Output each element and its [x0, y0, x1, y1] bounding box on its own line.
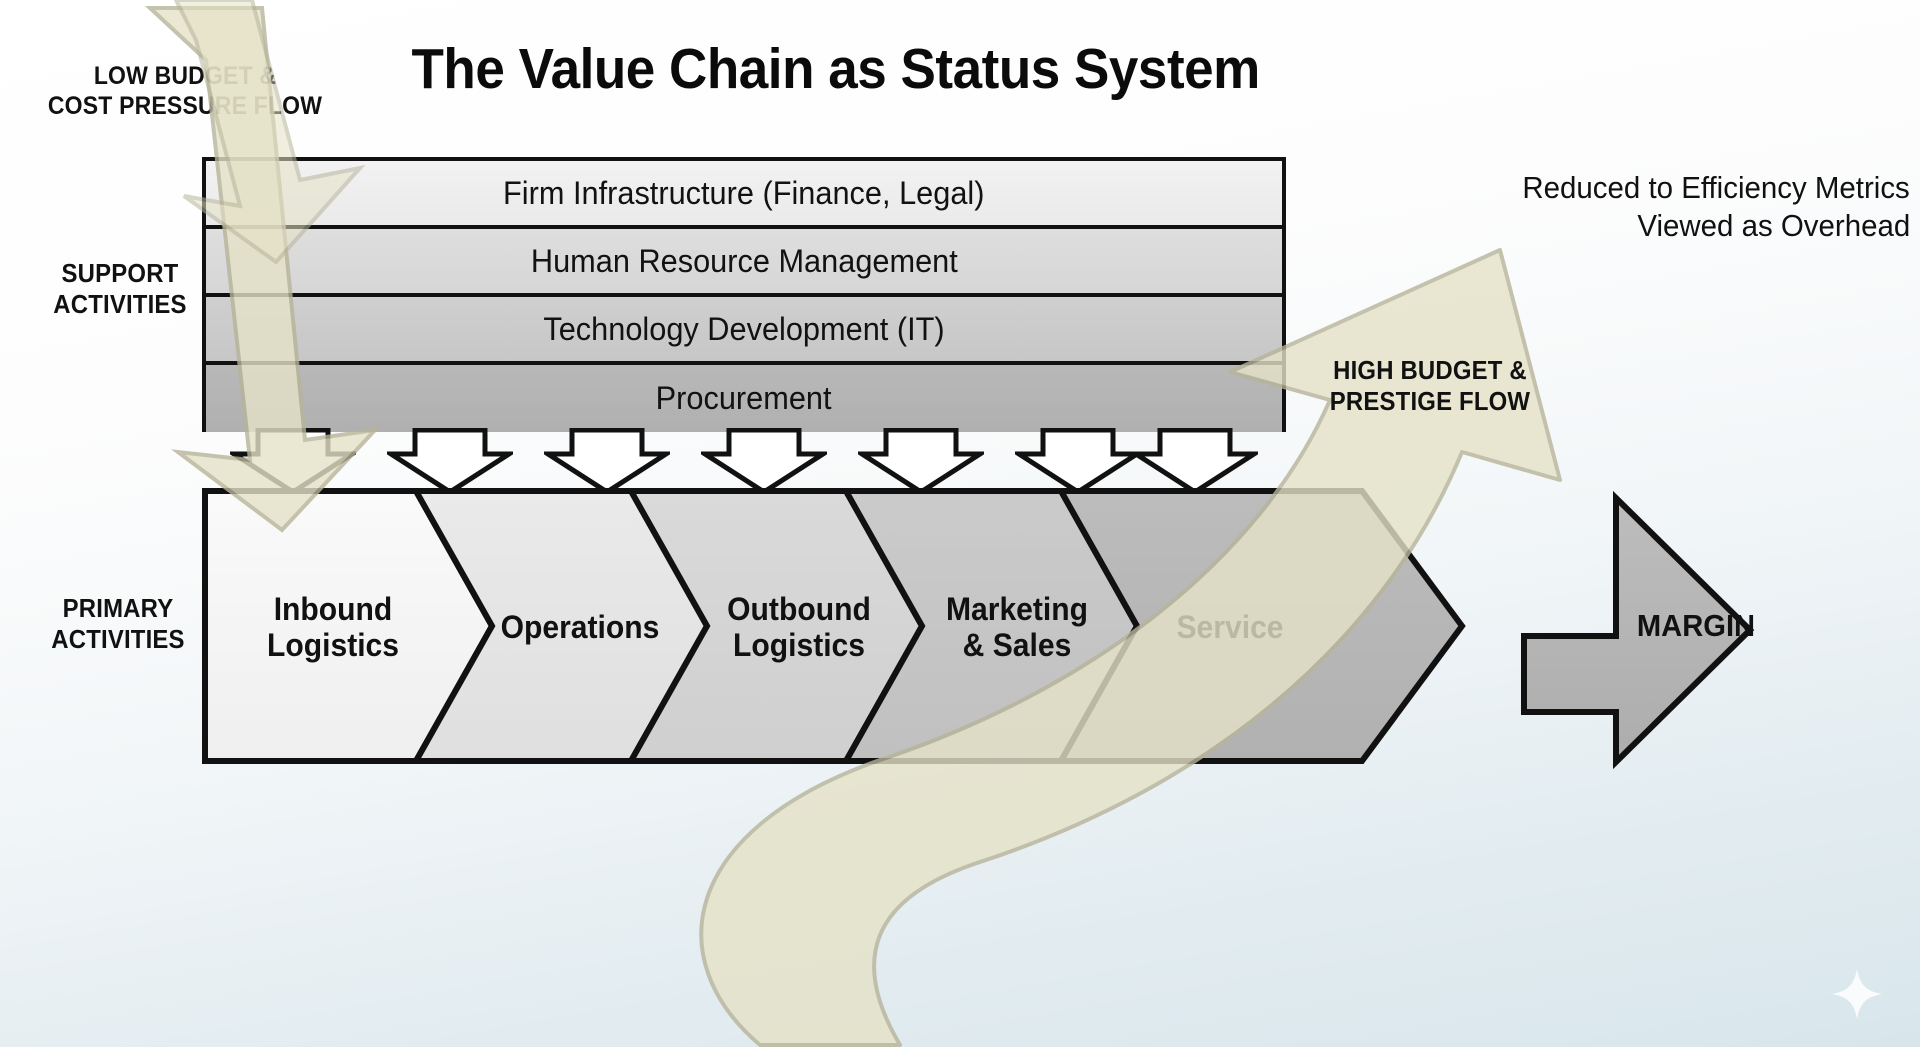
down-arrow-icon	[1015, 428, 1141, 496]
chevron-label-service[interactable]: Service	[1141, 610, 1320, 646]
down-arrow-icon	[1132, 428, 1258, 496]
low-budget-flow-line2: COST PRESSURE FLOW	[24, 92, 346, 122]
chevron-label-line2: & Sales	[928, 628, 1107, 664]
support-activities-line1: SUPPORT	[28, 258, 212, 289]
chevron-label-line2: Logistics	[706, 628, 892, 664]
chevron-label-operations[interactable]: Operations	[491, 610, 670, 646]
annotation-efficiency-metrics: Reduced to Efficiency Metrics	[1523, 170, 1910, 206]
low-budget-flow-line1: LOW BUDGET &	[24, 62, 346, 92]
page-title: The Value Chain as Status System	[412, 36, 1249, 102]
support-row-procurement[interactable]: Procurement	[206, 365, 1282, 432]
chevron-label-line1: Marketing	[928, 592, 1107, 628]
chevron-label-outbound-logistics[interactable]: Outbound Logistics	[706, 592, 892, 664]
support-row-label: Firm Infrastructure (Finance, Legal)	[503, 175, 984, 212]
down-arrow-icon	[387, 428, 513, 496]
support-row-label: Procurement	[656, 380, 832, 417]
chevron-label-line2: Logistics	[244, 628, 423, 664]
chevron-label-line1: Service	[1141, 610, 1320, 646]
high-budget-flow-label: HIGH BUDGET & PRESTIGE FLOW	[1292, 355, 1568, 416]
primary-activities-label: PRIMARY ACTIVITIES	[26, 593, 210, 654]
down-arrow-icon	[230, 428, 356, 496]
support-row-technology-development[interactable]: Technology Development (IT)	[206, 297, 1282, 365]
high-budget-flow-line1: HIGH BUDGET &	[1292, 355, 1568, 386]
chevron-label-line1: Outbound	[706, 592, 892, 628]
down-arrow-icon	[858, 428, 984, 496]
down-arrow-icon	[544, 428, 670, 496]
support-row-label: Technology Development (IT)	[543, 311, 944, 348]
chevron-label-marketing-sales[interactable]: Marketing & Sales	[928, 592, 1107, 664]
support-activities-line2: ACTIVITIES	[28, 289, 212, 320]
support-row-human-resource-management[interactable]: Human Resource Management	[206, 229, 1282, 297]
high-budget-flow-line2: PRESTIGE FLOW	[1292, 386, 1568, 417]
support-row-label: Human Resource Management	[531, 243, 958, 280]
annotation-viewed-as-overhead: Viewed as Overhead	[1637, 208, 1910, 244]
chevron-label-line1: Operations	[491, 610, 670, 646]
sparkle-icon	[1830, 967, 1884, 1021]
support-activities-label: SUPPORT ACTIVITIES	[28, 258, 212, 319]
low-budget-flow-label: LOW BUDGET & COST PRESSURE FLOW	[24, 62, 346, 121]
support-row-firm-infrastructure[interactable]: Firm Infrastructure (Finance, Legal)	[206, 161, 1282, 229]
margin-label: MARGIN	[1602, 608, 1790, 644]
down-arrow-icon	[701, 428, 827, 496]
primary-activities-line1: PRIMARY	[26, 593, 210, 624]
chevron-label-inbound-logistics[interactable]: Inbound Logistics	[244, 592, 423, 664]
chevron-label-line1: Inbound	[244, 592, 423, 628]
primary-activities-line2: ACTIVITIES	[26, 624, 210, 655]
support-activities-block: Firm Infrastructure (Finance, Legal) Hum…	[202, 157, 1286, 432]
diagram-canvas: The Value Chain as Status System LOW BUD…	[0, 0, 1920, 1047]
support-to-primary-connectors	[202, 428, 1286, 496]
